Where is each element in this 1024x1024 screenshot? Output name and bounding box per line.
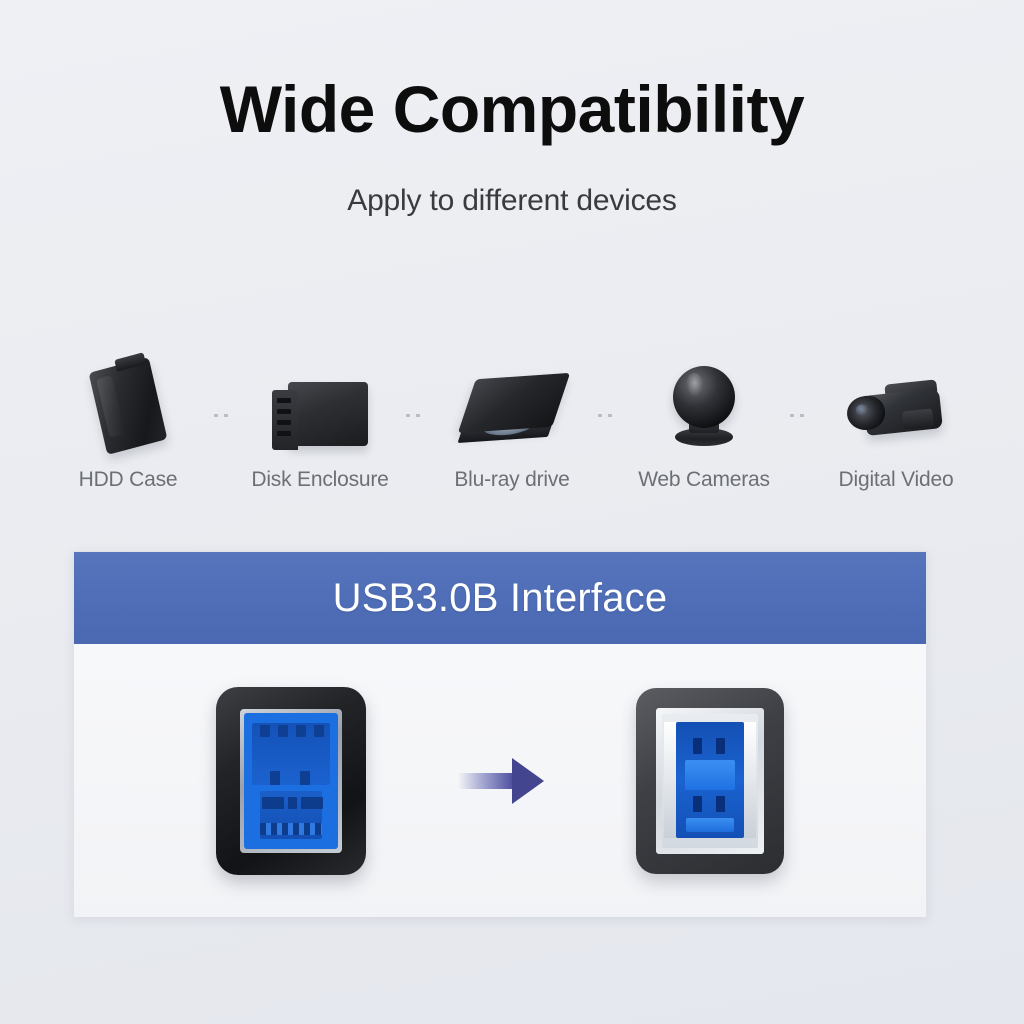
device-item-bluray-drive: Blu-ray drive (428, 358, 596, 492)
interface-panel-header: USB3.0B Interface (74, 552, 926, 644)
device-item-digital-video: Digital Video (812, 358, 980, 492)
device-label: Disk Enclosure (251, 468, 388, 492)
device-label: Blu-ray drive (454, 468, 569, 492)
disk-enclosure-icon (255, 358, 385, 454)
usb3-b-male-plug-icon (216, 687, 366, 875)
right-arrow-icon (458, 758, 544, 804)
device-item-disk-enclosure: Disk Enclosure (236, 358, 404, 492)
page-title: Wide Compatibility (0, 76, 1024, 142)
dotted-connector-4 (788, 358, 812, 454)
interface-title: USB3.0B Interface (333, 576, 668, 621)
dotted-connector-2 (404, 358, 428, 454)
header: Wide Compatibility Apply to different de… (0, 0, 1024, 218)
page-subtitle: Apply to different devices (0, 184, 1024, 218)
dotted-connector-3 (596, 358, 620, 454)
interface-panel: USB3.0B Interface (73, 551, 927, 917)
dotted-connector-1 (212, 358, 236, 454)
usb3-b-female-port-icon (636, 688, 784, 874)
device-label: Web Cameras (638, 468, 770, 492)
camcorder-icon (831, 358, 961, 454)
device-compatibility-strip: HDD Case Disk Enclosure Blu-ray drive (44, 358, 980, 508)
bluray-drive-icon (447, 358, 577, 454)
webcam-icon (639, 358, 769, 454)
external-hard-drive-icon (63, 358, 193, 454)
interface-panel-body (74, 644, 926, 917)
device-item-web-cameras: Web Cameras (620, 358, 788, 492)
device-item-hdd-case: HDD Case (44, 358, 212, 492)
device-label: HDD Case (79, 468, 178, 492)
device-label: Digital Video (839, 468, 954, 492)
